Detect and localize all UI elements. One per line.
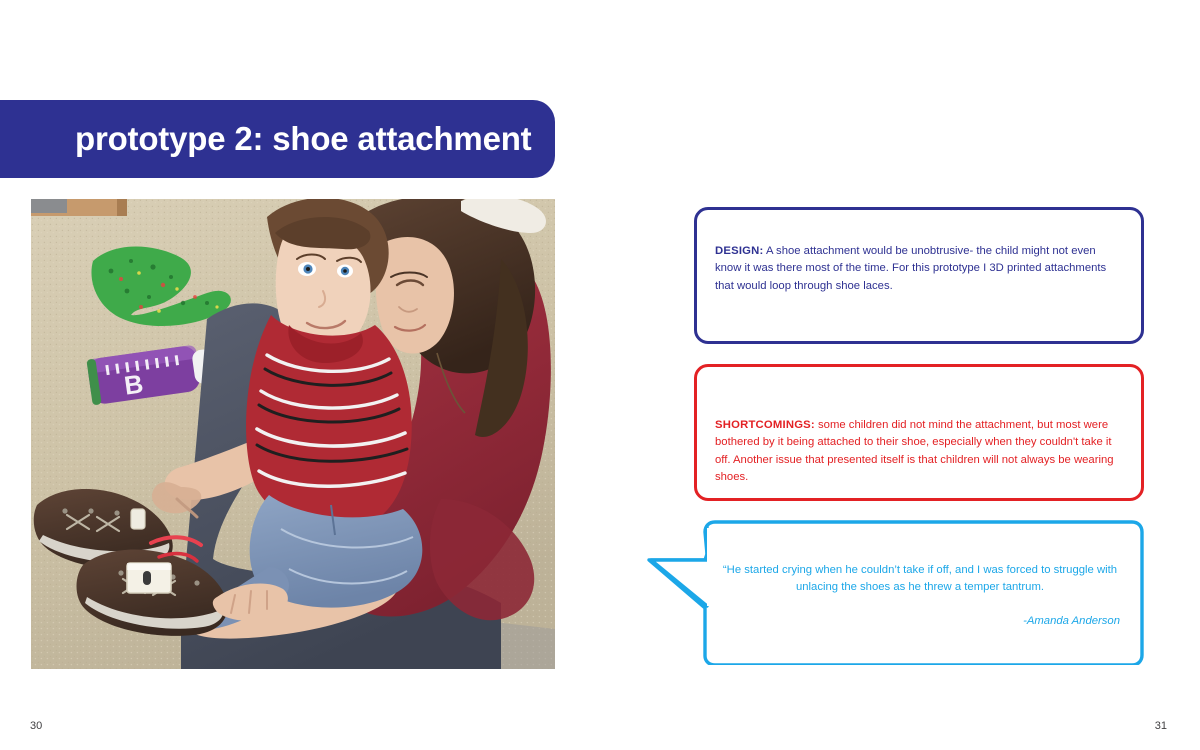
printed-attachment [127,563,171,593]
page-title: prototype 2: shoe attachment [75,120,531,158]
design-label: DESIGN: [715,245,763,257]
design-text: A shoe attachment would be unobtrusive- … [715,245,1106,291]
shortcomings-callout-box: SHORTCOMINGS: some children did not mind… [694,364,1144,501]
photo-illustration: B [31,199,555,669]
quote-text: “He started crying when he couldn’t take… [720,562,1120,596]
design-callout-text: DESIGN: A shoe attachment would be unobt… [715,243,1123,294]
page-number-right: 31 [1155,720,1167,732]
title-banner: prototype 2: shoe attachment [0,100,555,178]
shortcomings-label: SHORTCOMINGS: [715,419,815,431]
page-number-left: 30 [30,720,42,732]
shortcomings-callout-text: SHORTCOMINGS: some children did not mind… [715,417,1123,486]
design-callout-box: DESIGN: A shoe attachment would be unobt… [694,207,1144,344]
quote-attribution: -Amanda Anderson [720,615,1120,627]
prototype-photo: B [31,199,555,669]
quote-speech-bubble: “He started crying when he couldn’t take… [645,520,1145,665]
